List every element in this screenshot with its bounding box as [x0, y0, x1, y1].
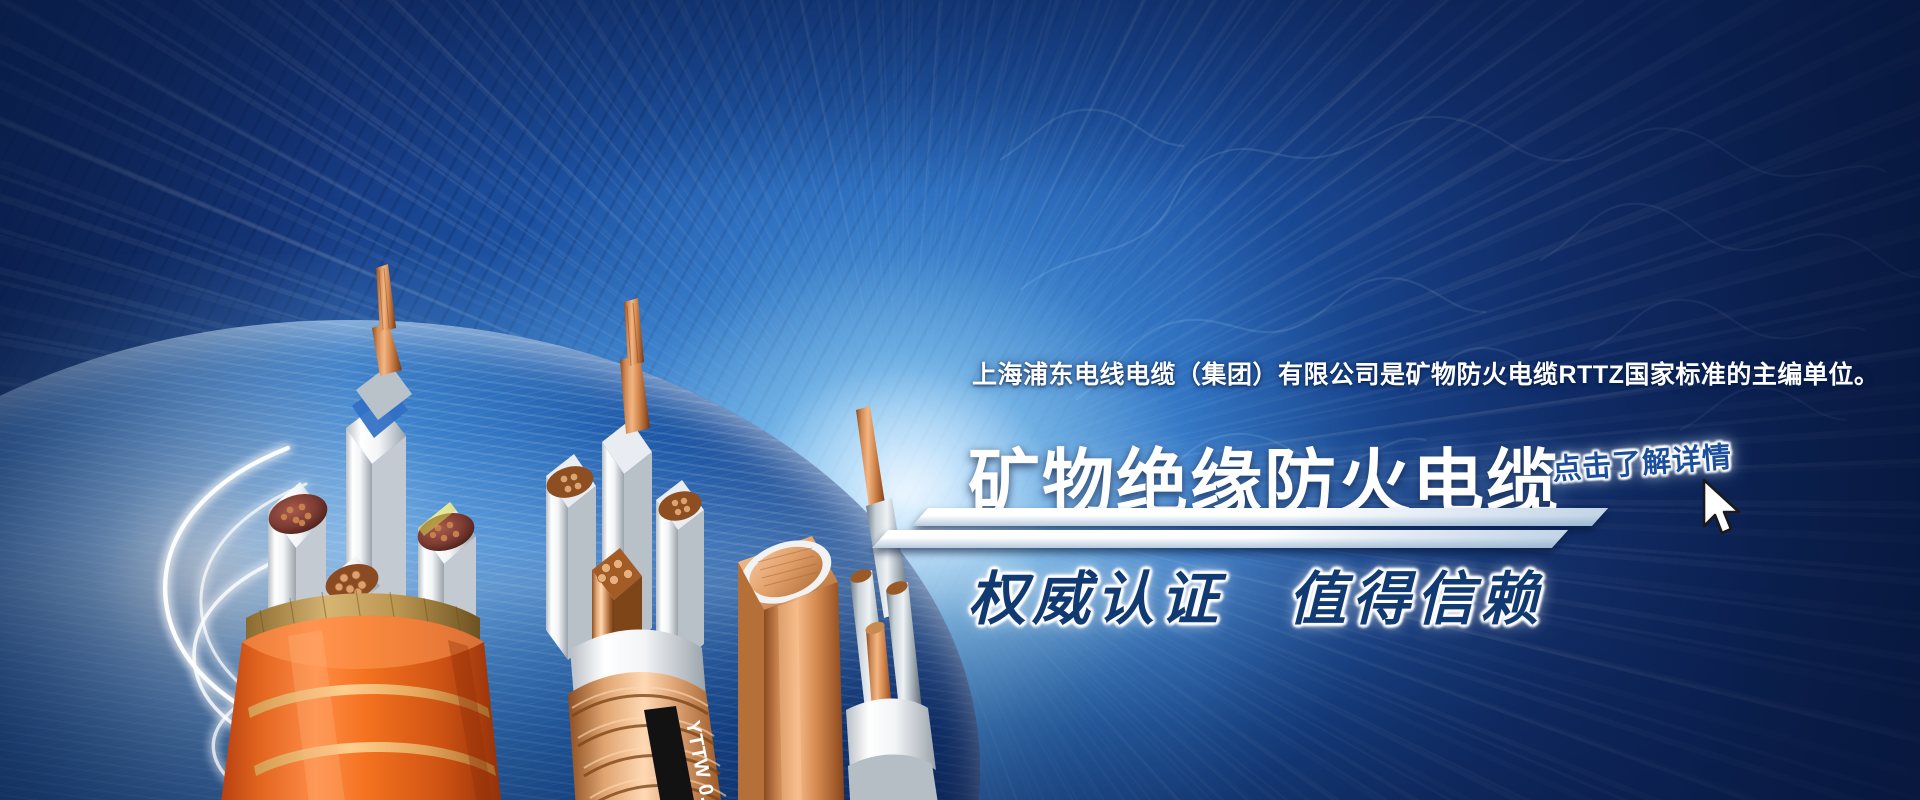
- cable-copper-rod: [732, 529, 850, 800]
- cable-bttz-thin: [846, 406, 950, 800]
- cable-spec-label: YTTW 0.6/1KV 3×50+2×25: [644, 706, 751, 800]
- hero-banner: YTTW 0.6/1KV 3×50+2×25: [0, 0, 1920, 800]
- cable-orange-yttw: [220, 264, 502, 800]
- cable-product-group: YTTW 0.6/1KV 3×50+2×25: [150, 210, 950, 800]
- cable-copper-armored-yttw: YTTW 0.6/1KV 3×50+2×25: [543, 298, 762, 800]
